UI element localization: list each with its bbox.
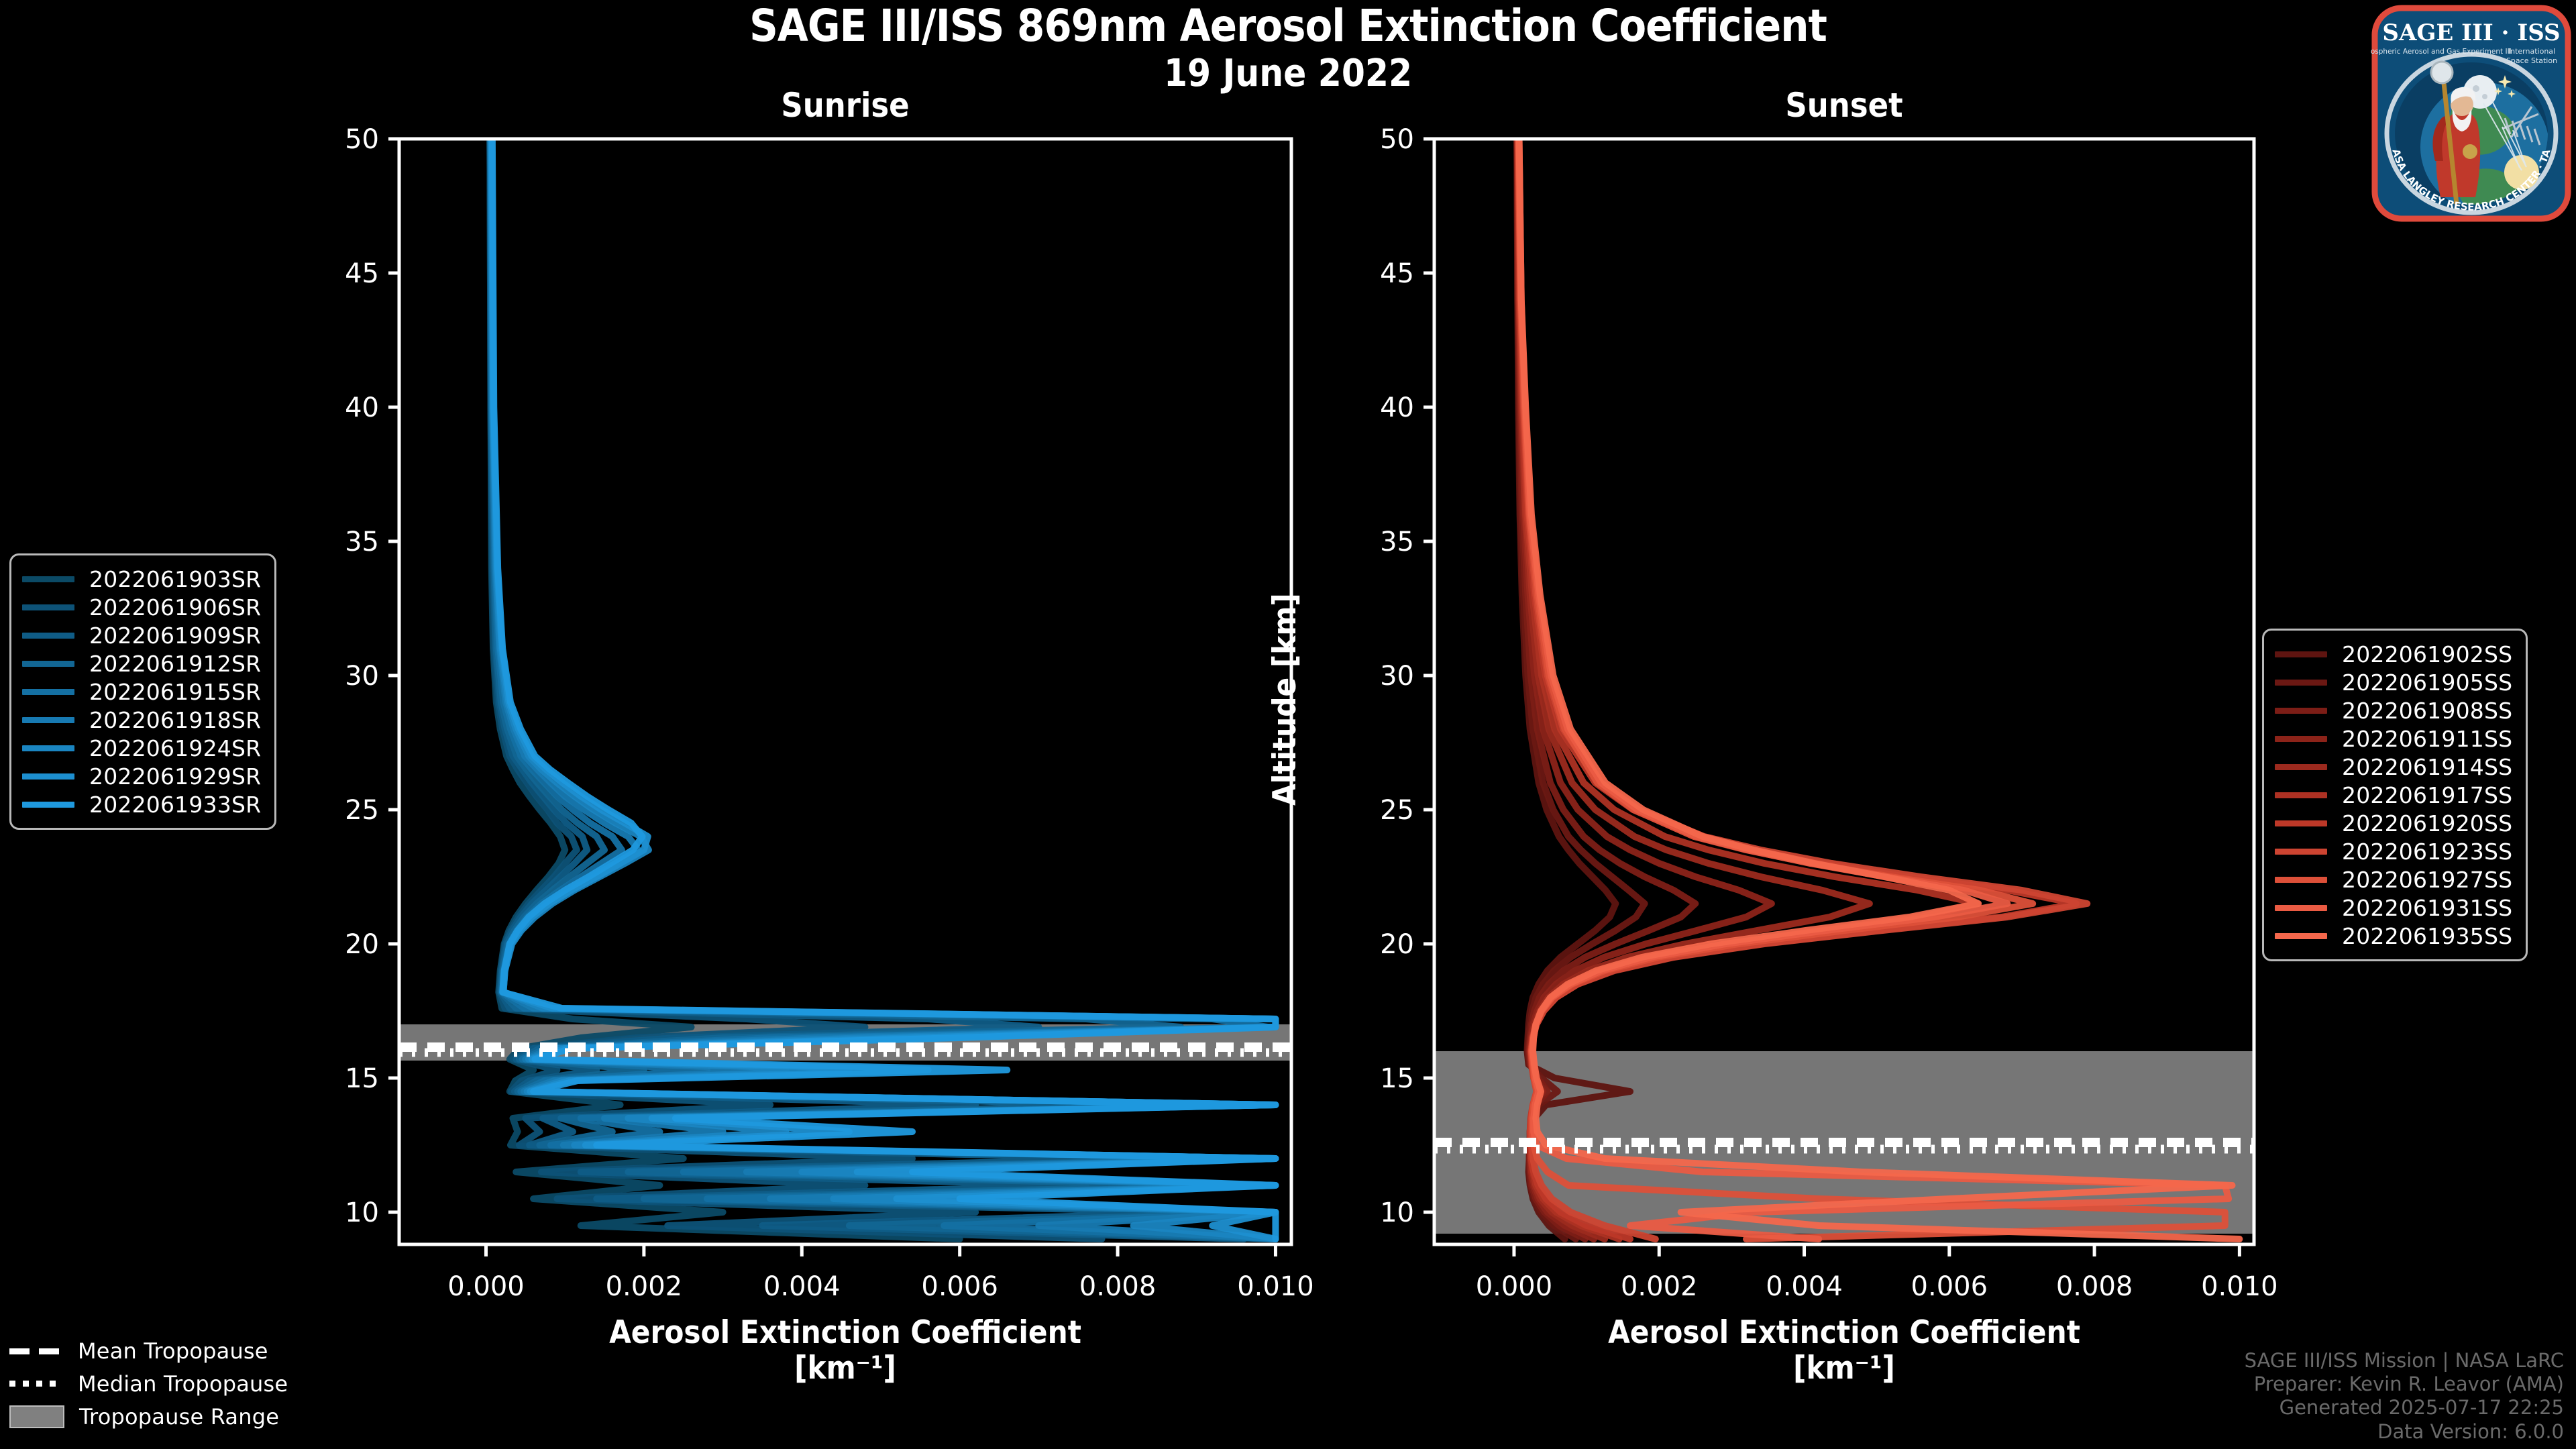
- legend-color-swatch: [22, 773, 74, 780]
- legend-item[interactable]: 2022061918SR: [22, 706, 261, 734]
- legend-label: 2022061923SS: [2342, 839, 2512, 865]
- range-swatch-icon: [9, 1405, 64, 1428]
- legend-color-swatch: [2275, 849, 2327, 855]
- legend-item[interactable]: 2022061908SS: [2275, 696, 2512, 724]
- x-axis-label-sunrise: Aerosol Extinction Coefficient [km⁻¹]: [399, 1316, 1291, 1386]
- legend-item[interactable]: 2022061911SS: [2275, 724, 2512, 753]
- legend-label: 2022061915SR: [89, 679, 261, 705]
- legend-color-swatch: [22, 661, 74, 667]
- svg-text:0.010: 0.010: [1237, 1271, 1314, 1302]
- svg-text:10: 10: [1380, 1197, 1414, 1228]
- legend-label: 2022061905SS: [2342, 669, 2512, 696]
- svg-text:International: International: [2508, 47, 2555, 56]
- svg-text:15: 15: [1380, 1063, 1414, 1094]
- legend-tropopause: Mean Tropopause Median Tropopause Tropop…: [9, 1334, 288, 1433]
- legend-item[interactable]: 2022061912SR: [22, 649, 261, 678]
- legend-item[interactable]: 2022061906SR: [22, 593, 261, 621]
- svg-text:10: 10: [345, 1197, 379, 1228]
- legend-color-swatch: [2275, 680, 2327, 686]
- legend-color-swatch: [22, 576, 74, 582]
- legend-item[interactable]: 2022061933SR: [22, 790, 261, 818]
- x-axis-label-text: Aerosol Extinction Coefficient: [1434, 1316, 2254, 1351]
- legend-sunrise[interactable]: 2022061903SR2022061906SR2022061909SR2022…: [9, 553, 276, 830]
- legend-label: 2022061912SR: [89, 651, 261, 677]
- legend-color-swatch: [2275, 933, 2327, 939]
- legend-item[interactable]: 2022061909SR: [22, 621, 261, 649]
- credits-data-version: Data Version: 6.0.0: [2245, 1420, 2564, 1444]
- svg-text:0.008: 0.008: [2056, 1271, 2133, 1302]
- legend-label: 2022061929SR: [89, 763, 261, 790]
- legend-color-swatch: [22, 802, 74, 808]
- legend-color-swatch: [22, 689, 74, 695]
- legend-item[interactable]: 2022061935SS: [2275, 922, 2512, 950]
- svg-text:0.002: 0.002: [606, 1271, 683, 1302]
- svg-text:0.002: 0.002: [1621, 1271, 1698, 1302]
- mission-patch-svg: SAGE III · ISSStratospheric Aerosol and …: [2371, 3, 2572, 224]
- legend-color-swatch: [22, 745, 74, 751]
- legend-label: 2022061909SR: [89, 623, 261, 649]
- dashed-line-icon: [9, 1344, 63, 1358]
- svg-text:0.006: 0.006: [1911, 1271, 1988, 1302]
- legend-color-swatch: [2275, 905, 2327, 911]
- credits-generated: Generated 2025-07-17 22:25: [2245, 1396, 2564, 1419]
- svg-text:45: 45: [1380, 258, 1414, 289]
- svg-text:50: 50: [1380, 124, 1414, 155]
- legend-color-swatch: [2275, 736, 2327, 742]
- panel-title-sunset: Sunset: [1434, 86, 2254, 125]
- legend-color-swatch: [22, 604, 74, 610]
- svg-text:0.000: 0.000: [1476, 1271, 1553, 1302]
- svg-text:35: 35: [1380, 527, 1414, 557]
- svg-text:20: 20: [1380, 929, 1414, 960]
- legend-label: 2022061908SS: [2342, 698, 2512, 724]
- legend-color-swatch: [2275, 792, 2327, 798]
- legend-item[interactable]: 2022061929SR: [22, 762, 261, 790]
- legend-color-swatch: [22, 633, 74, 639]
- legend-color-swatch: [2275, 764, 2327, 770]
- svg-text:0.010: 0.010: [2201, 1271, 2278, 1302]
- x-axis-units: [km⁻¹]: [1434, 1351, 2254, 1387]
- legend-item[interactable]: 2022061902SS: [2275, 640, 2512, 668]
- legend-item-mean-tropopause: Mean Tropopause: [9, 1334, 288, 1367]
- legend-label-tropopause-range: Tropopause Range: [79, 1404, 279, 1430]
- svg-text:25: 25: [345, 795, 379, 826]
- svg-text:0.004: 0.004: [763, 1271, 841, 1302]
- legend-label: 2022061906SR: [89, 594, 261, 621]
- legend-item[interactable]: 2022061923SS: [2275, 837, 2512, 865]
- svg-text:0.000: 0.000: [447, 1271, 525, 1302]
- legend-item[interactable]: 2022061914SS: [2275, 753, 2512, 781]
- page-title: SAGE III/ISS 869nm Aerosol Extinction Co…: [0, 0, 2576, 52]
- legend-label: 2022061911SS: [2342, 726, 2512, 752]
- legend-color-swatch: [22, 717, 74, 723]
- legend-item[interactable]: 2022061931SS: [2275, 894, 2512, 922]
- legend-label-mean-tropopause: Mean Tropopause: [78, 1338, 268, 1364]
- legend-label: 2022061918SR: [89, 707, 261, 733]
- legend-label-median-tropopause: Median Tropopause: [78, 1371, 288, 1397]
- chart-sunset: 1015202530354045500.0000.0020.0040.0060.…: [1434, 139, 2254, 1244]
- legend-item[interactable]: 2022061905SS: [2275, 668, 2512, 696]
- svg-text:50: 50: [345, 124, 379, 155]
- svg-text:25: 25: [1380, 795, 1414, 826]
- x-axis-label-sunset: Aerosol Extinction Coefficient [km⁻¹]: [1434, 1316, 2254, 1386]
- chart-sunrise: 1015202530354045500.0000.0020.0040.0060.…: [399, 139, 1291, 1244]
- legend-item[interactable]: 2022061924SR: [22, 734, 261, 762]
- legend-color-swatch: [2275, 651, 2327, 657]
- legend-item[interactable]: 2022061917SS: [2275, 781, 2512, 809]
- svg-text:40: 40: [1380, 392, 1414, 423]
- legend-item[interactable]: 2022061903SR: [22, 565, 261, 593]
- panel-title-sunrise: Sunrise: [399, 86, 1291, 125]
- legend-label: 2022061931SS: [2342, 895, 2512, 921]
- legend-label: 2022061917SS: [2342, 782, 2512, 808]
- legend-item-tropopause-range: Tropopause Range: [9, 1400, 288, 1433]
- x-axis-label-text: Aerosol Extinction Coefficient: [399, 1316, 1291, 1351]
- patch-subtitle-left: Stratospheric Aerosol and Gas Experiment…: [2371, 48, 2512, 56]
- svg-text:30: 30: [1380, 661, 1414, 692]
- x-axis-units: [km⁻¹]: [399, 1351, 1291, 1387]
- legend-label: 2022061927SS: [2342, 867, 2512, 893]
- svg-text:35: 35: [345, 527, 379, 557]
- credits-preparer: Preparer: Kevin R. Leavor (AMA): [2245, 1373, 2564, 1396]
- legend-color-swatch: [2275, 820, 2327, 826]
- legend-item[interactable]: 2022061915SR: [22, 678, 261, 706]
- legend-label: 2022061902SS: [2342, 641, 2512, 667]
- svg-text:20: 20: [345, 929, 379, 960]
- sage-iii-iss-mission-patch: SAGE III · ISSStratospheric Aerosol and …: [2371, 3, 2572, 224]
- credits-block: SAGE III/ISS Mission | NASA LaRC Prepare…: [2245, 1349, 2564, 1444]
- legend-label: 2022061935SS: [2342, 923, 2512, 949]
- svg-text:0.006: 0.006: [921, 1271, 998, 1302]
- legend-label: 2022061933SR: [89, 792, 261, 818]
- legend-label: 2022061914SS: [2342, 754, 2512, 780]
- dotted-line-icon: [9, 1377, 63, 1391]
- svg-text:45: 45: [345, 258, 379, 289]
- legend-label: 2022061924SR: [89, 735, 261, 761]
- legend-color-swatch: [2275, 877, 2327, 883]
- credits-mission: SAGE III/ISS Mission | NASA LaRC: [2245, 1349, 2564, 1373]
- legend-color-swatch: [2275, 708, 2327, 714]
- legend-item-median-tropopause: Median Tropopause: [9, 1367, 288, 1400]
- svg-text:Space Station: Space Station: [2506, 56, 2557, 65]
- svg-text:0.004: 0.004: [1766, 1271, 1843, 1302]
- legend-label: 2022061920SS: [2342, 810, 2512, 837]
- svg-text:15: 15: [345, 1063, 379, 1094]
- svg-text:30: 30: [345, 661, 379, 692]
- svg-text:40: 40: [345, 392, 379, 423]
- legend-item[interactable]: 2022061920SS: [2275, 809, 2512, 837]
- legend-item[interactable]: 2022061927SS: [2275, 865, 2512, 894]
- legend-label: 2022061903SR: [89, 566, 261, 592]
- svg-text:0.008: 0.008: [1079, 1271, 1157, 1302]
- legend-sunset[interactable]: 2022061902SS2022061905SS2022061908SS2022…: [2262, 629, 2528, 961]
- y-axis-label-sunset: Altitude [km]: [1267, 593, 1303, 806]
- patch-title: SAGE III · ISS: [2382, 19, 2560, 46]
